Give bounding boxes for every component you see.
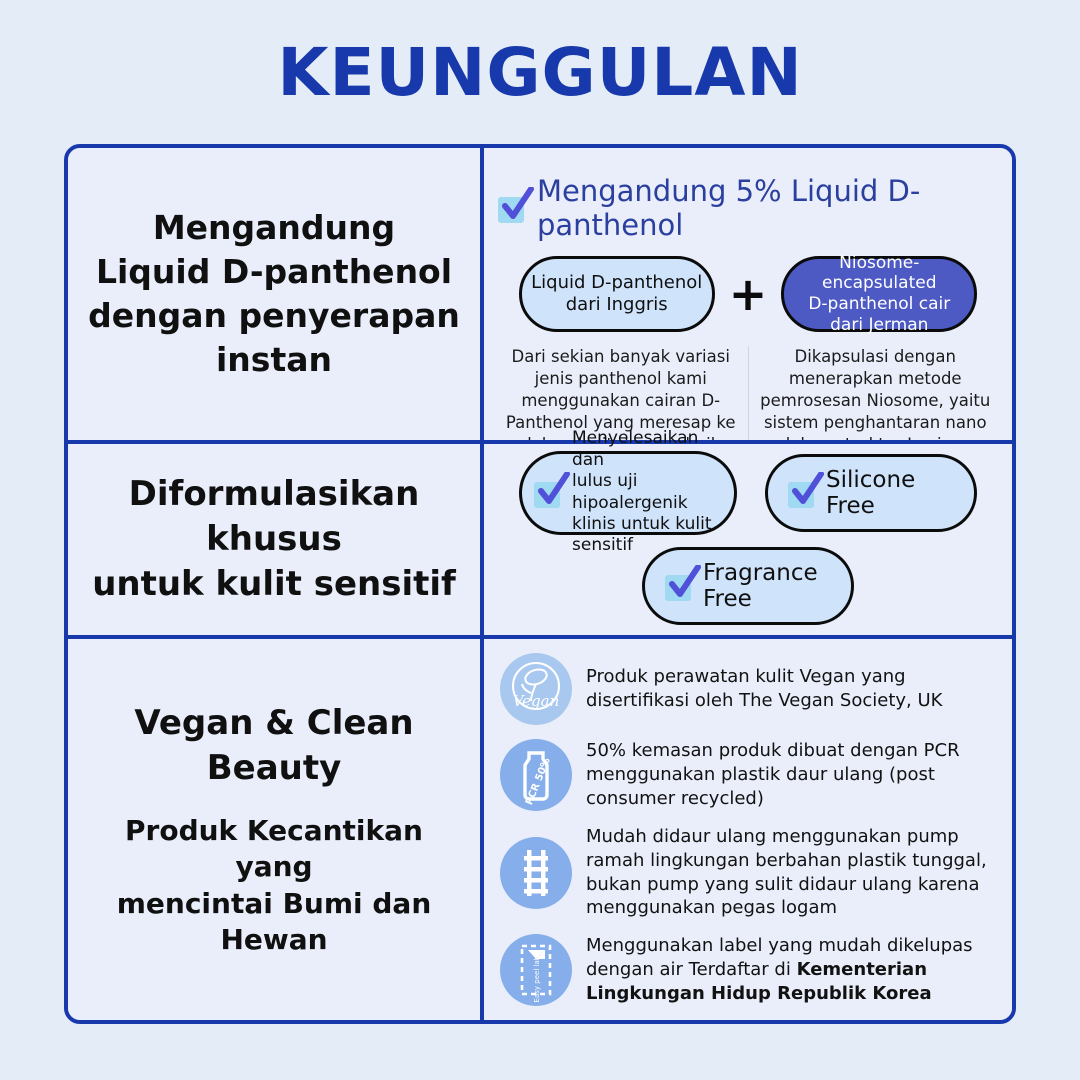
row3-sub-line-2: mencintai Bumi dan Hewan — [117, 887, 432, 956]
pcr-bottle-icon: PCR 50% — [500, 739, 572, 811]
check-icon — [498, 193, 528, 223]
table-row-ingredient: Mengandung Liquid D-panthenol dengan pen… — [68, 148, 1012, 440]
pill1-line-2: dari Inggris — [566, 294, 668, 315]
benefits-table: Mengandung Liquid D-panthenol dengan pen… — [64, 144, 1016, 1024]
infographic-page: KEUNGGULAN Mengandung Liquid D-panthenol… — [0, 0, 1080, 1080]
list-item-text: Mudah didaur ulang menggunakan pump rama… — [586, 825, 994, 920]
row2-right-cell: Menyelesaikan dan lulus uji hipoalergeni… — [484, 444, 1012, 635]
table-row-vegan-clean: Vegan & Clean Beauty Produk Kecantikan y… — [68, 639, 1012, 1020]
pill2-line-3: dari Jerman — [830, 315, 928, 335]
row2-left-cell: Diformulasikan khusus untuk kulit sensit… — [68, 444, 484, 635]
list-item-text: Produk perawatan kulit Vegan yang disert… — [586, 665, 994, 713]
row1-right-cell: Mengandung 5% Liquid D-panthenol Liquid … — [484, 148, 1012, 440]
table-row-sensitive-skin: Diformulasikan khusus untuk kulit sensit… — [68, 440, 1012, 639]
badge-silicone-free: Silicone Free — [765, 454, 977, 532]
page-title: KEUNGGULAN — [0, 34, 1080, 111]
badge3-label: Fragrance Free — [703, 560, 831, 612]
recyclable-pump-icon — [500, 837, 572, 909]
list-item-text: 50% kemasan produk dibuat dengan PCR men… — [586, 739, 994, 810]
svg-text:Easy peel label: Easy peel label — [533, 950, 541, 1003]
list-item: Mudah didaur ulang menggunakan pump rama… — [500, 825, 994, 920]
badge-line-2: Fragrance Free — [500, 547, 996, 625]
badge1-line-2: lulus uji hipoalergenik — [572, 471, 688, 512]
list-item: PCR 50% 50% kemasan produk dibuat dengan… — [500, 739, 994, 811]
row3-left-subtitle: Produk Kecantikan yang mencintai Bumi da… — [82, 813, 466, 959]
pill-liquid-d-panthenol: Liquid D-panthenol dari Inggris — [519, 256, 715, 332]
row3-right-cell: Vegan Produk perawatan kulit Vegan yang … — [484, 639, 1012, 1020]
row2-left-line-1: Diformulasikan khusus — [129, 474, 420, 559]
list-item: Easy peel label Menggunakan label yang m… — [500, 934, 994, 1006]
list-item: Vegan Produk perawatan kulit Vegan yang … — [500, 653, 994, 725]
badge2-label: Silicone Free — [826, 467, 954, 519]
sustainability-list: Vegan Produk perawatan kulit Vegan yang … — [484, 639, 1012, 1020]
pill1-line-1: Liquid D-panthenol — [531, 272, 702, 293]
pill2-line-2: D-panthenol cair — [808, 294, 950, 314]
badge-line-1: Menyelesaikan dan lulus uji hipoalergeni… — [500, 451, 996, 535]
ingredient-pill-row: Liquid D-panthenol dari Inggris + Niosom… — [484, 256, 1012, 332]
plus-operator: + — [729, 271, 768, 317]
check-icon — [788, 478, 818, 508]
row2-left-title: Diformulasikan khusus untuk kulit sensit… — [82, 472, 466, 608]
pill-niosome-encapsulated: Niosome-encapsulated D-panthenol cair da… — [781, 256, 977, 332]
row1-left-line-2: Liquid D-panthenol — [96, 252, 452, 291]
pill2-line-1: Niosome-encapsulated — [822, 253, 936, 294]
check-icon — [665, 571, 695, 601]
list-item-text: Menggunakan label yang mudah dikelupas d… — [586, 934, 994, 1005]
row1-headline-text: Mengandung 5% Liquid D-panthenol — [537, 174, 1012, 242]
check-icon — [534, 478, 564, 508]
easy-peel-label-icon: Easy peel label — [500, 934, 572, 1006]
row1-left-title: Mengandung Liquid D-panthenol dengan pen… — [88, 206, 460, 382]
row3-left-heading: Vegan & Clean Beauty — [82, 701, 466, 791]
badge1-line-1: Menyelesaikan dan — [572, 428, 698, 469]
row1-left-line-1: Mengandung — [153, 208, 395, 247]
row1-headline: Mengandung 5% Liquid D-panthenol — [484, 148, 1012, 242]
row1-left-cell: Mengandung Liquid D-panthenol dengan pen… — [68, 148, 484, 440]
row3-sub-line-1: Produk Kecantikan yang — [125, 814, 423, 883]
svg-text:Vegan: Vegan — [513, 692, 560, 710]
row1-left-line-4: instan — [216, 340, 332, 379]
badge-hypoallergenic: Menyelesaikan dan lulus uji hipoalergeni… — [519, 451, 737, 535]
row1-left-line-3: dengan penyerapan — [88, 296, 460, 335]
vegan-society-icon: Vegan — [500, 653, 572, 725]
row2-left-line-2: untuk kulit sensitif — [92, 564, 456, 604]
claim-badges: Menyelesaikan dan lulus uji hipoalergeni… — [484, 444, 1012, 635]
row3-left-cell: Vegan & Clean Beauty Produk Kecantikan y… — [68, 639, 484, 1020]
badge-fragrance-free: Fragrance Free — [642, 547, 854, 625]
